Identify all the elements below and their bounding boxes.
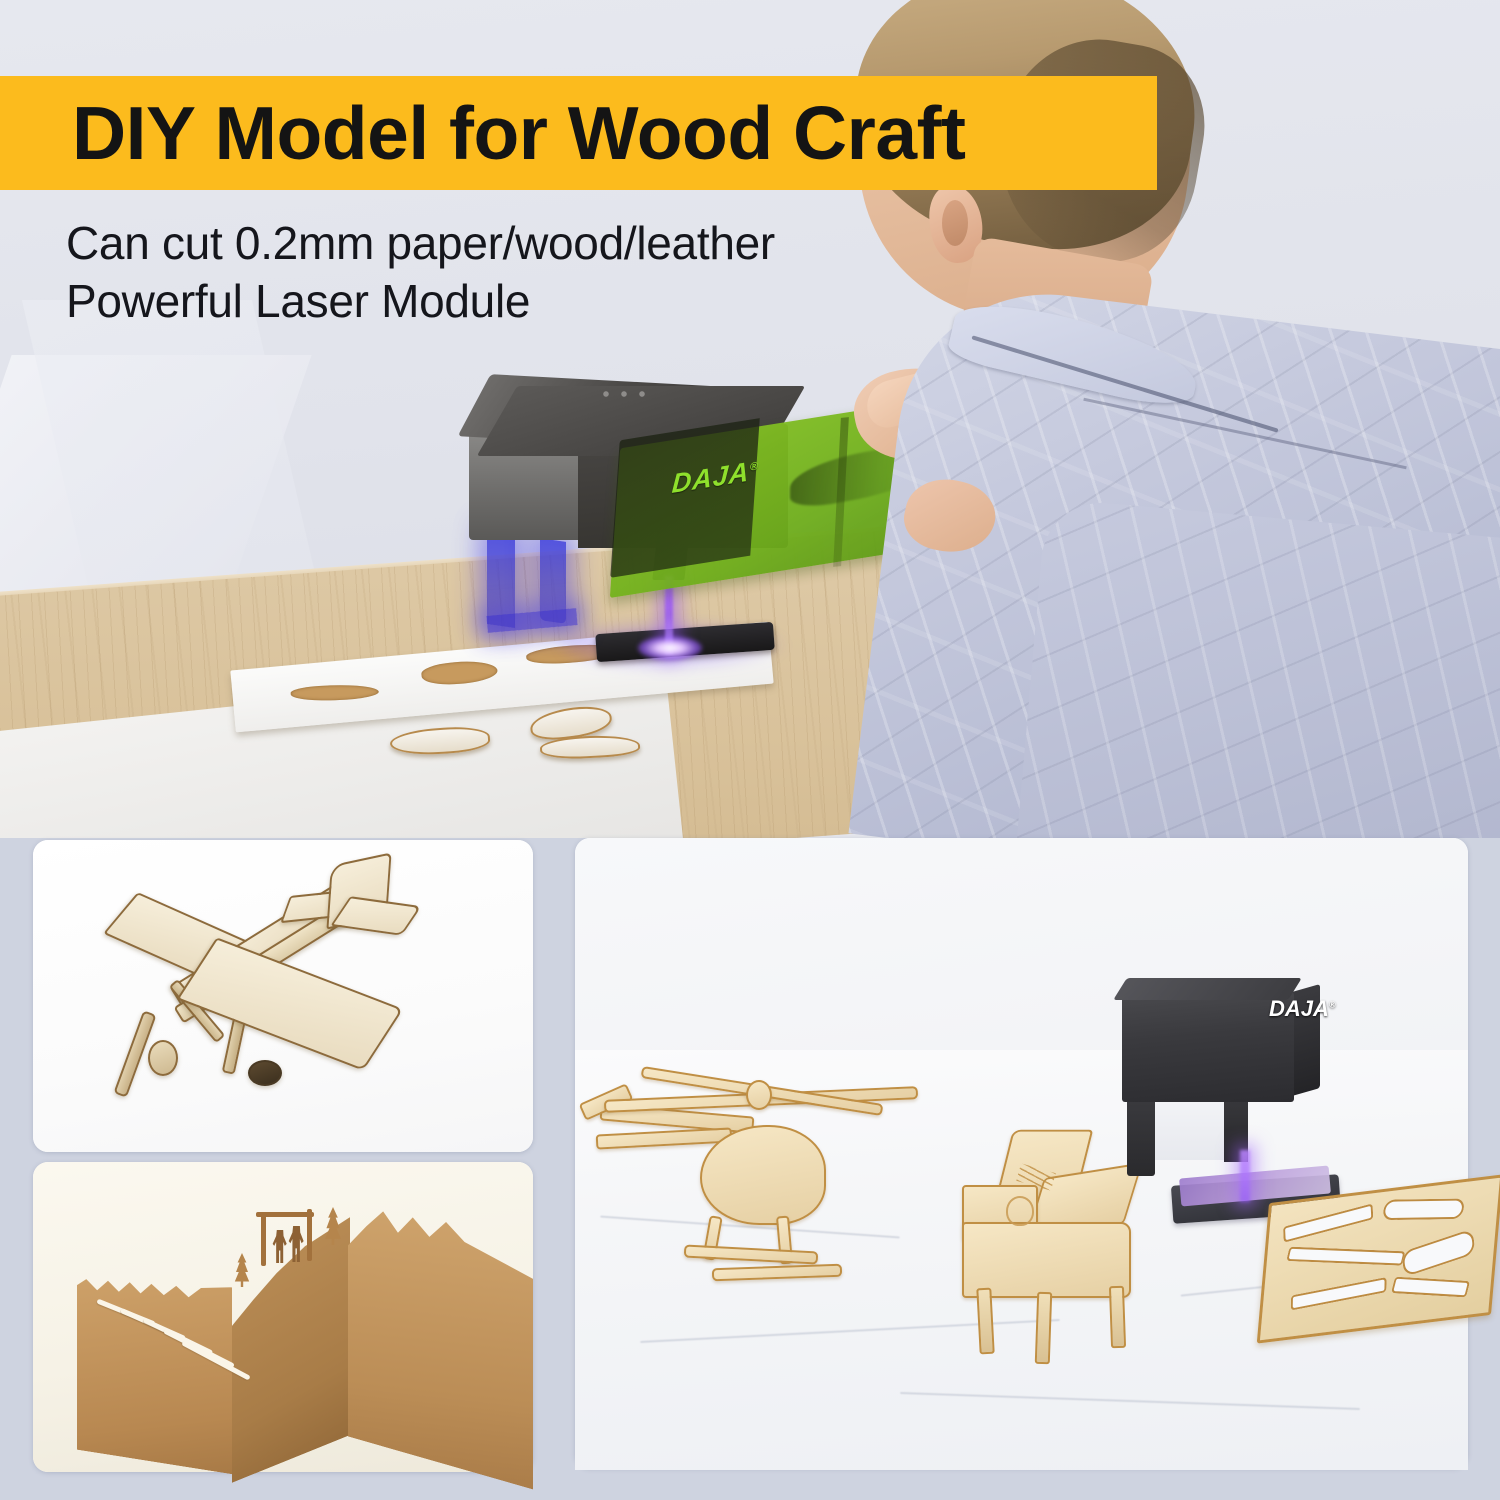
trademark-symbol: ®: [1329, 1000, 1336, 1010]
subheading-line-1: Can cut 0.2mm paper/wood/leather: [66, 214, 775, 272]
gate-beam: [256, 1212, 314, 1217]
sheet-cutout: [1401, 1228, 1475, 1277]
arm-wrinkle-texture: [1015, 498, 1500, 838]
headline-banner: DIY Model for Wood Craft: [0, 76, 1157, 190]
gate-post-left: [261, 1214, 266, 1266]
engraver-leg-front: [1127, 1094, 1155, 1176]
popup-panel-left-field: [77, 1263, 232, 1475]
sheet-cutout: [1286, 1247, 1405, 1266]
laser-burn-spot: [638, 636, 702, 660]
piano-engraved-motif: [1006, 1196, 1034, 1226]
helicopter-body: [700, 1125, 826, 1225]
sheet-cutout: [1382, 1198, 1466, 1220]
sheet-cutout: [1391, 1277, 1470, 1298]
daja-logo-white: DAJA®: [1269, 996, 1336, 1022]
subheading-block: Can cut 0.2mm paper/wood/leather Powerfu…: [66, 214, 775, 330]
engraver-opening: [1155, 1096, 1225, 1160]
cut-shape-dinosaur: [290, 684, 379, 702]
product-marketing-image: DAJA® DIY Model for Wood Craft Can cut 0…: [0, 0, 1500, 1500]
subheading-line-2: Powerful Laser Module: [66, 272, 775, 330]
engraver-laser-beam: [1240, 1150, 1250, 1202]
airplane-propeller-hub: [148, 1040, 178, 1076]
helicopter-rotor-hub: [746, 1080, 772, 1110]
person-ear-inner: [942, 200, 968, 246]
cut-shape-bird: [421, 658, 499, 687]
piano-leg-right: [1109, 1286, 1126, 1348]
page-title: DIY Model for Wood Craft: [72, 87, 966, 179]
piano-case: [962, 1222, 1131, 1298]
daja-wordmark: DAJA: [1269, 996, 1329, 1021]
piano-leg-center: [1035, 1292, 1053, 1364]
laser-cut-wood-sheet: [1257, 1174, 1500, 1343]
person-arm: [1015, 498, 1500, 838]
sheet-cutout: [1283, 1203, 1373, 1242]
shield-dark-window: [610, 418, 760, 578]
airplane-wheel: [248, 1060, 282, 1086]
trademark-symbol: ®: [749, 460, 759, 474]
engraver-vent-holes: [596, 388, 654, 400]
sheet-cutout: [1291, 1277, 1387, 1311]
